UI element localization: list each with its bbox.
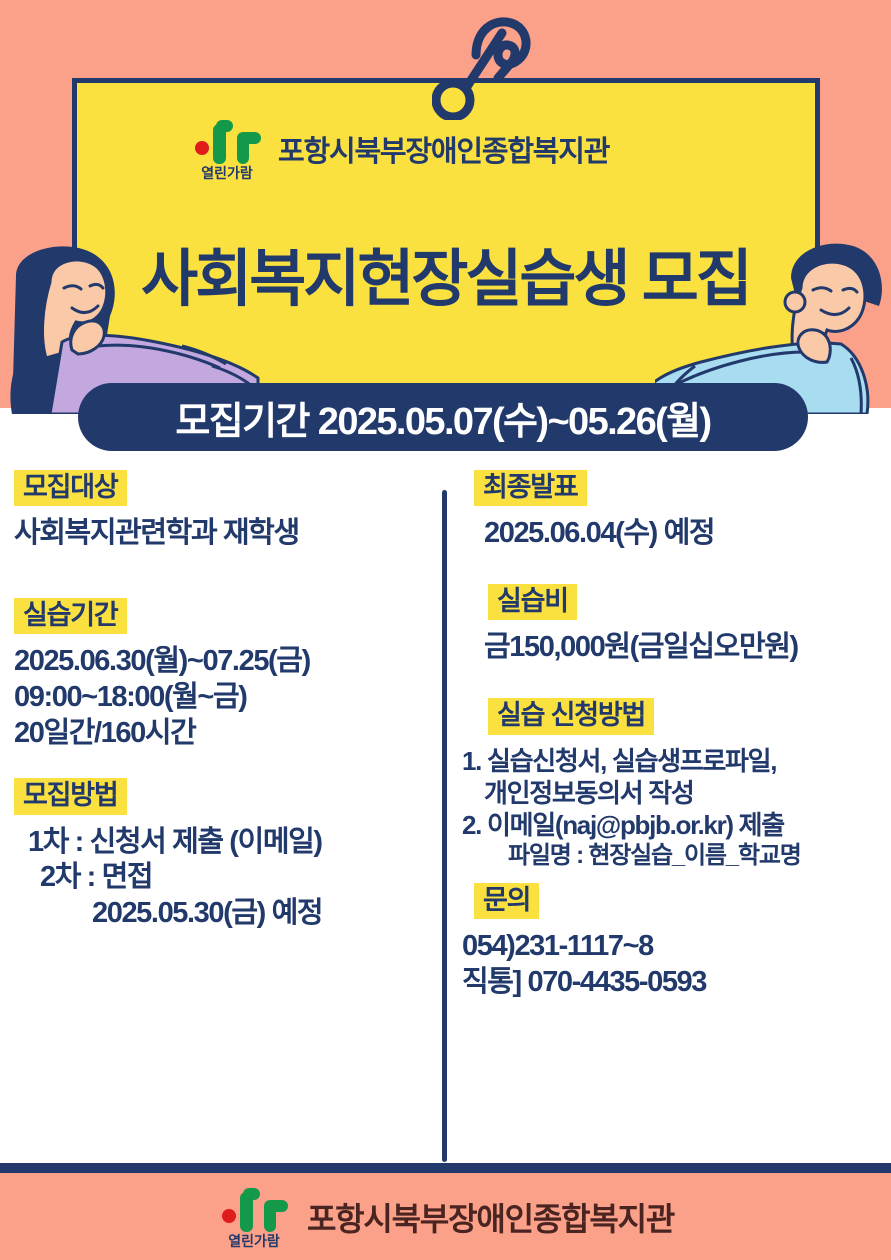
heading-label: 모집방법 <box>14 778 127 814</box>
apply-method-line-4: 파일명 : 현장실습_이름_학교명 <box>462 841 882 871</box>
heading-label: 최종발표 <box>474 470 587 506</box>
spacer <box>462 672 882 698</box>
logo-caption: 열린가람 <box>201 165 253 180</box>
inquiry-phone-direct: 직통] 070-4435-0593 <box>462 965 882 1001</box>
heading-label: 실습 신청방법 <box>488 698 654 734</box>
yeollingaram-logo-icon: 열린가람 <box>217 1186 291 1248</box>
section-heading-practice-period: 실습기간 <box>14 598 432 634</box>
heading-label: 모집대상 <box>14 470 127 506</box>
logo-caption: 열린가람 <box>228 1233 280 1248</box>
footer-divider-bar <box>0 1163 891 1173</box>
section-heading-inquiry: 문의 <box>462 883 882 919</box>
recruit-method-line-2: 2차 : 면접 <box>14 860 432 896</box>
practice-period-line-3: 20일간/160시간 <box>14 716 432 752</box>
poster-title: 사회복지현장실습생 모집 <box>0 228 891 318</box>
column-divider <box>442 490 447 1162</box>
spacer <box>462 558 882 584</box>
heading-label: 실습기간 <box>14 598 127 634</box>
left-column: 모집대상 사회복지관련학과 재학생 실습기간 2025.06.30(월)~07.… <box>14 470 432 932</box>
footer-section: 열린가람 포항시북부장애인종합복지관 <box>0 1173 891 1260</box>
final-announcement-line-1: 2025.06.04(수) 예정 <box>462 516 882 552</box>
recruitment-period-banner: 모집기간 2025.05.07(수)~05.26(월) <box>78 383 808 451</box>
apply-method-line-3: 2. 이메일(naj@pbjb.or.kr) 제출 <box>462 809 882 841</box>
footer-logo-row: 열린가람 포항시북부장애인종합복지관 <box>217 1186 674 1248</box>
section-heading-recruit-target: 모집대상 <box>14 470 432 506</box>
section-heading-recruit-method: 모집방법 <box>14 778 432 814</box>
section-heading-final-announcement: 최종발표 <box>462 470 882 506</box>
poster-root: 열린가람 포항시북부장애인종합복지관 사회복지현장실습생 모집 <box>0 0 891 1260</box>
recruit-target-line-1: 사회복지관련학과 재학생 <box>14 516 432 552</box>
yeollingaram-logo-icon: 열린가람 <box>190 118 264 180</box>
practice-period-line-2: 09:00~18:00(월~금) <box>14 680 432 716</box>
header-organization-name: 포항시북부장애인종합복지관 <box>278 128 609 170</box>
right-column: 최종발표 2025.06.04(수) 예정 실습비 금150,000원(금일십오… <box>462 470 882 1001</box>
practice-fee-line-1: 금150,000원(금일십오만원) <box>462 630 882 666</box>
footer-organization-name: 포항시북부장애인종합복지관 <box>307 1194 674 1240</box>
spacer <box>14 752 432 778</box>
logo-row: 열린가람 포항시북부장애인종합복지관 <box>190 118 609 180</box>
recruit-method-line-3: 2025.05.30(금) 예정 <box>14 896 432 932</box>
apply-method-line-1: 1. 실습신청서, 실습생프로파일, <box>462 745 882 777</box>
spacer <box>462 871 882 883</box>
recruit-method-line-1: 1차 : 신청서 제출 (이메일) <box>14 825 432 861</box>
heading-label: 실습비 <box>488 584 577 620</box>
section-heading-practice-fee: 실습비 <box>462 584 882 620</box>
body-section: 모집대상 사회복지관련학과 재학생 실습기간 2025.06.30(월)~07.… <box>0 470 891 1160</box>
magnifier-icon <box>432 8 562 120</box>
inquiry-phone-main: 054)231-1117~8 <box>462 929 882 965</box>
heading-label: 문의 <box>474 883 539 919</box>
recruitment-period-text: 모집기간 2025.05.07(수)~05.26(월) <box>175 390 710 445</box>
practice-period-line-1: 2025.06.30(월)~07.25(금) <box>14 644 432 680</box>
spacer <box>14 558 432 598</box>
apply-method-line-2: 개인정보동의서 작성 <box>462 777 882 809</box>
header-logo-block: 열린가람 포항시북부장애인종합복지관 <box>190 118 609 180</box>
section-heading-apply-method: 실습 신청방법 <box>462 698 882 734</box>
